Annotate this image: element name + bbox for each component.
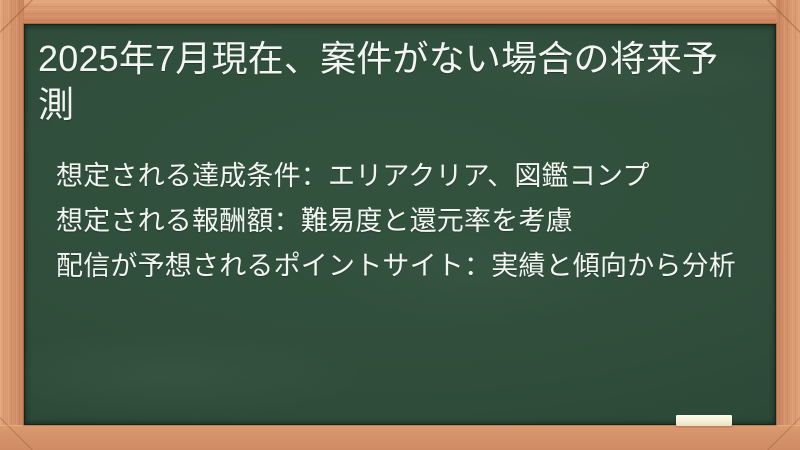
frame-left-rail [0,0,24,450]
chalkboard-content: 2025年7月現在、案件がない場合の将来予測 想定される達成条件：エリアクリア、… [24,24,776,289]
slide-title: 2025年7月現在、案件がない場合の将来予測 [38,36,750,128]
bullet-item-reward-amount: 想定される報酬額：難易度と還元率を考慮 [56,199,746,244]
bullet-item-point-sites: 配信が予想されるポイントサイト：実績と傾向から分析 [56,244,746,289]
chalkboard-surface: 2025年7月現在、案件がない場合の将来予測 想定される達成条件：エリアクリア、… [24,24,776,425]
frame-top-rail [0,0,800,24]
bullet-list: 想定される達成条件：エリアクリア、図鑑コンプ 想定される報酬額：難易度と還元率を… [38,154,750,289]
frame-bottom-ledge [0,425,800,450]
chalk-stick-icon [676,415,732,426]
bullet-item-achievement-conditions: 想定される達成条件：エリアクリア、図鑑コンプ [56,154,746,199]
chalkboard-slide: 2025年7月現在、案件がない場合の将来予測 想定される達成条件：エリアクリア、… [0,0,800,450]
frame-right-rail [776,0,800,450]
